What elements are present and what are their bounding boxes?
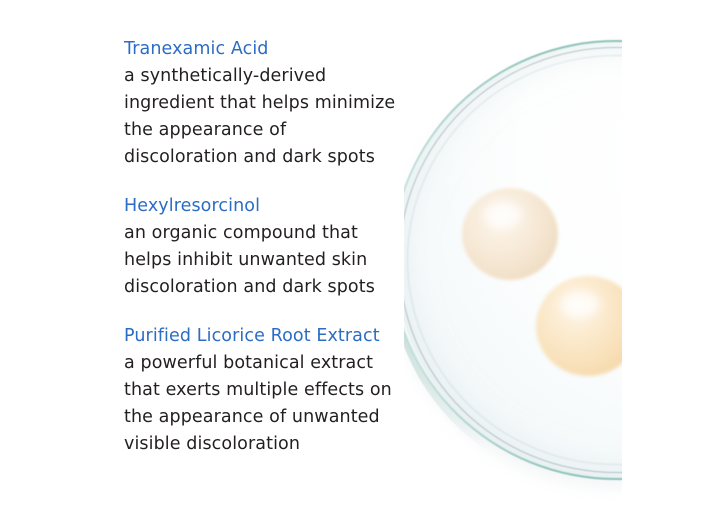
ingredient-description: a powerful botanical extract that exerts… (124, 350, 420, 458)
petri-dish-stage (404, 0, 622, 522)
description-line: discoloration and dark spots (124, 274, 420, 301)
description-line: the appearance of (124, 117, 420, 144)
description-line: that exerts multiple effects on (124, 377, 420, 404)
ingredient-list: Tranexamic Acid a synthetically-derived … (124, 36, 420, 458)
ingredient-item-tranexamic-acid: Tranexamic Acid a synthetically-derived … (124, 36, 420, 171)
ingredient-item-purified-licorice-root-extract: Purified Licorice Root Extract a powerfu… (124, 323, 420, 458)
description-line: ingredient that helps minimize (124, 90, 420, 117)
ingredient-name: Purified Licorice Root Extract (124, 323, 420, 350)
droplet-highlight (484, 202, 522, 228)
description-line: helps inhibit unwanted skin (124, 247, 420, 274)
ingredient-name: Tranexamic Acid (124, 36, 420, 63)
ingredient-name: Hexylresorcinol (124, 193, 420, 220)
ingredient-description: an organic compound that helps inhibit u… (124, 220, 420, 301)
description-line: a synthetically-derived (124, 63, 420, 90)
description-line: the appearance of unwanted (124, 404, 420, 431)
petri-dish-photo (404, 0, 622, 522)
ingredient-callout-page: Tranexamic Acid a synthetically-derived … (0, 0, 720, 522)
serum-droplet-cream (462, 188, 558, 280)
description-line: an organic compound that (124, 220, 420, 247)
description-line: visible discoloration (124, 431, 420, 458)
droplet-highlight (560, 291, 600, 318)
ingredient-description: a synthetically-derived ingredient that … (124, 63, 420, 171)
description-line: a powerful botanical extract (124, 350, 420, 377)
description-line: discoloration and dark spots (124, 144, 420, 171)
ingredient-item-hexylresorcinol: Hexylresorcinol an organic compound that… (124, 193, 420, 301)
